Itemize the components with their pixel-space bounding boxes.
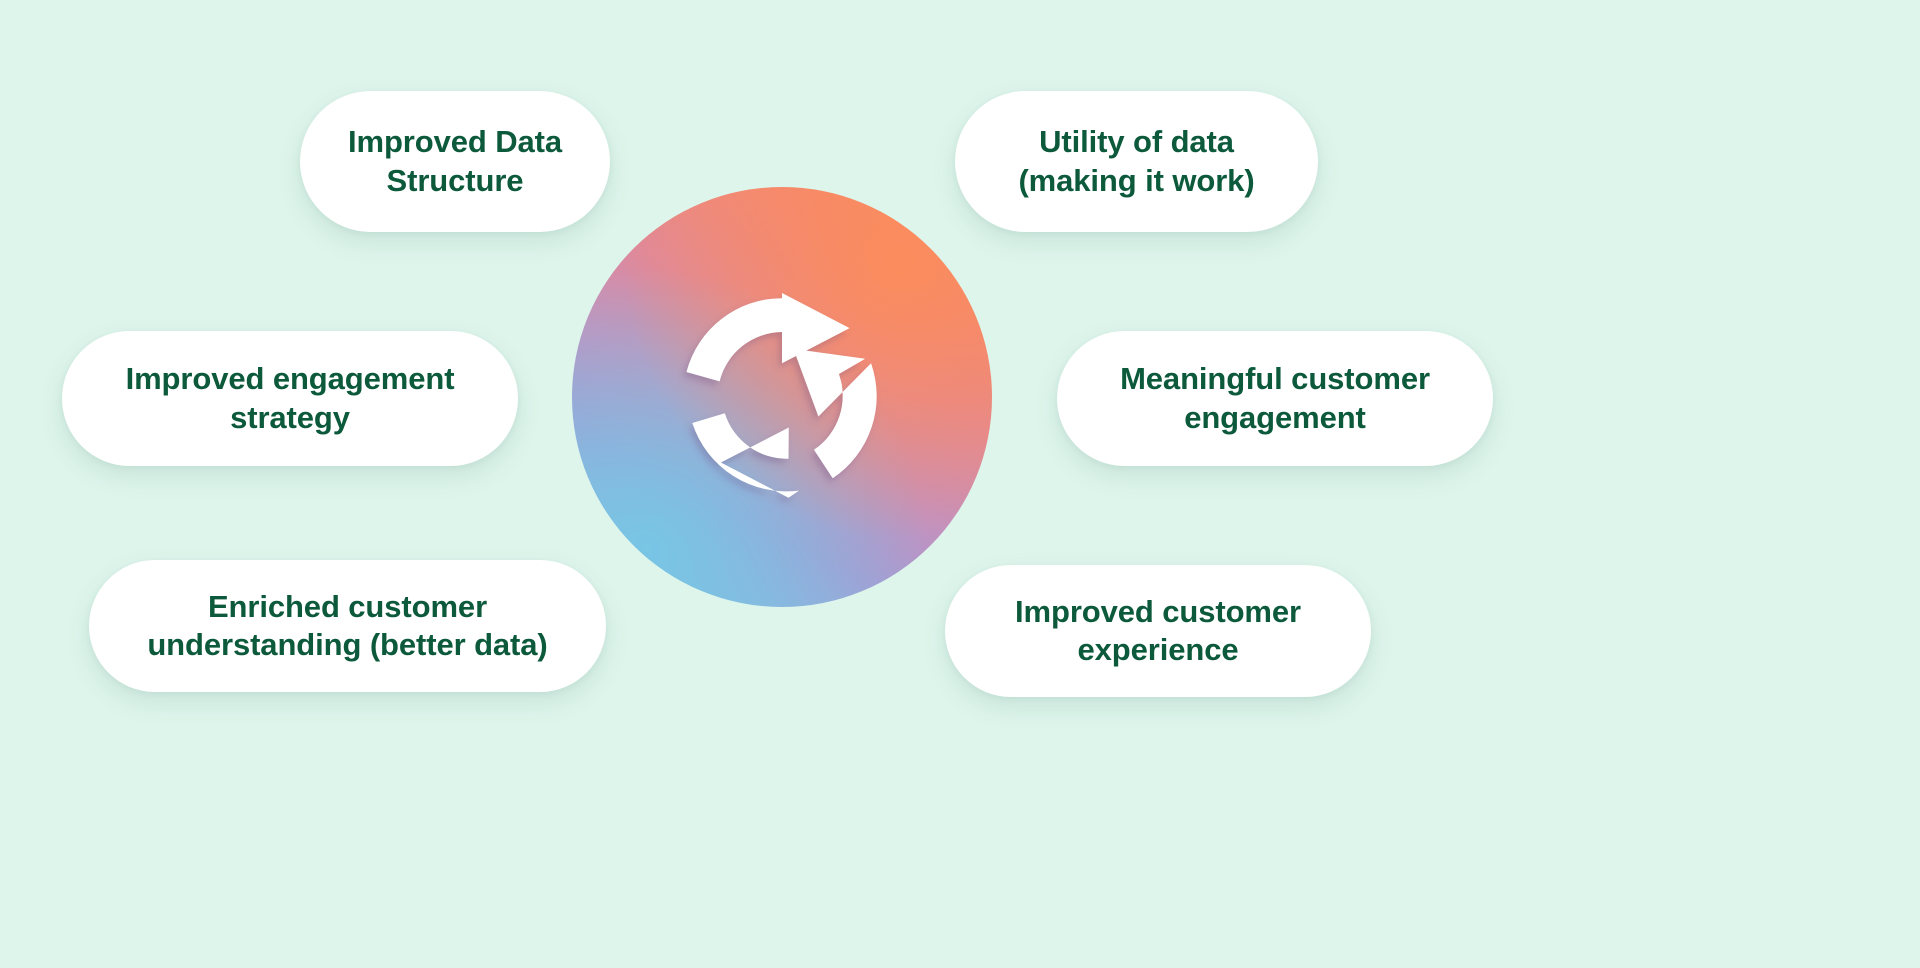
pill-line: (making it work) xyxy=(1018,162,1254,200)
pill-label: Meaningful customer engagement xyxy=(1120,360,1430,437)
pill-line: Enriched customer xyxy=(147,588,547,626)
pill-label: Enriched customer understanding (better … xyxy=(147,588,547,665)
pill-line: understanding (better data) xyxy=(147,626,547,664)
pill-enriched-customer-understanding[interactable]: Enriched customer understanding (better … xyxy=(89,560,606,692)
pill-label: Improved Data Structure xyxy=(348,123,562,200)
pill-line: Structure xyxy=(348,162,562,200)
center-gradient-circle xyxy=(572,187,992,607)
pill-improved-engagement-strategy[interactable]: Improved engagement strategy xyxy=(62,331,518,466)
pill-line: Meaningful customer xyxy=(1120,360,1430,398)
pill-line: engagement xyxy=(1120,399,1430,437)
pill-line: Improved engagement xyxy=(126,360,455,398)
pill-label: Improved customer experience xyxy=(1015,593,1301,670)
pill-line: Improved Data xyxy=(348,123,562,161)
pill-meaningful-customer-engagement[interactable]: Meaningful customer engagement xyxy=(1057,331,1493,466)
pill-label: Improved engagement strategy xyxy=(126,360,455,437)
pill-line: Utility of data xyxy=(1018,123,1254,161)
pill-label: Utility of data (making it work) xyxy=(1018,123,1254,200)
pill-line: experience xyxy=(1015,631,1301,669)
recycle-cycle-arrows-icon xyxy=(652,267,912,527)
pill-utility-of-data[interactable]: Utility of data (making it work) xyxy=(955,91,1318,232)
pill-line: Improved customer xyxy=(1015,593,1301,631)
diagram-canvas: Improved Data Structure Improved engagem… xyxy=(0,0,1920,968)
pill-improved-data-structure[interactable]: Improved Data Structure xyxy=(300,91,610,232)
pill-line: strategy xyxy=(126,399,455,437)
pill-improved-customer-experience[interactable]: Improved customer experience xyxy=(945,565,1371,697)
